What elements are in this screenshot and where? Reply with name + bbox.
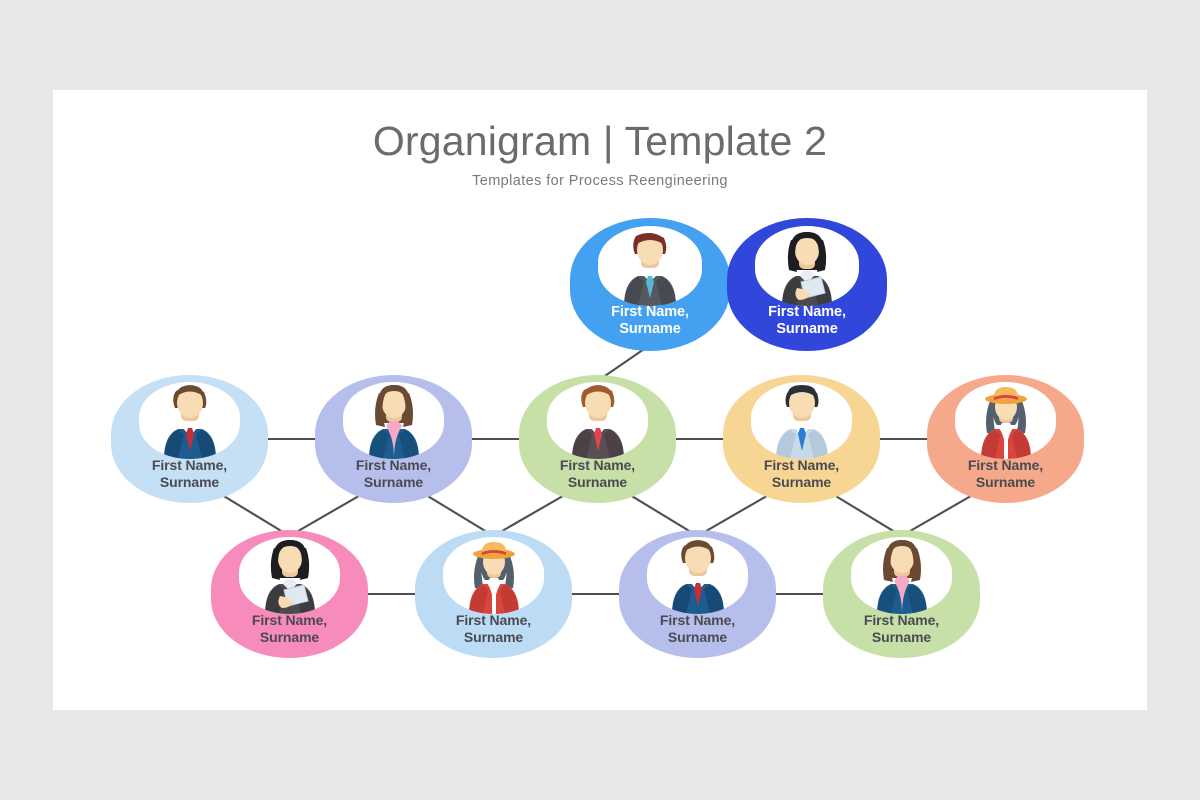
org-node-label: First Name, Surname: [111, 457, 268, 490]
avatar-woman-orange-hat-red-jacket: [443, 537, 544, 614]
avatar-man-blue-suit-red-tie: [647, 537, 748, 614]
org-node-mid-4[interactable]: First Name, Surname: [723, 375, 880, 503]
org-node-label: First Name, Surname: [927, 457, 1084, 490]
page-title: Organigram | Template 2: [53, 118, 1147, 165]
slide-card: Organigram | Template 2 Templates for Pr…: [53, 90, 1147, 710]
org-node-label: First Name, Surname: [315, 457, 472, 490]
org-node-label: First Name, Surname: [570, 304, 730, 338]
org-node-label: First Name, Surname: [619, 612, 776, 645]
page-subtitle: Templates for Process Reengineering: [53, 173, 1147, 189]
avatar-man-blue-suit-red-tie: [139, 382, 240, 459]
avatar-man-light-shirt-blue-tie: [751, 382, 852, 459]
conn-mid2-bot2: [420, 491, 494, 536]
avatar-woman-black-hair-documents: [239, 537, 340, 614]
conn-mid3-bot3: [624, 491, 698, 536]
org-node-mid-1[interactable]: First Name, Surname: [111, 375, 268, 503]
org-node-bot-2[interactable]: First Name, Surname: [415, 530, 572, 658]
org-node-bot-1[interactable]: First Name, Surname: [211, 530, 368, 658]
avatar-woman-black-hair-documents: [755, 226, 859, 306]
org-node-mid-2[interactable]: First Name, Surname: [315, 375, 472, 503]
org-node-top-2[interactable]: First Name, Surname: [727, 218, 887, 351]
conn-mid1-bot1: [216, 491, 290, 536]
conn-mid3-bot2: [494, 491, 572, 536]
org-node-mid-5[interactable]: First Name, Surname: [927, 375, 1084, 503]
org-node-bot-4[interactable]: First Name, Surname: [823, 530, 980, 658]
conn-mid2-bot1: [290, 491, 368, 536]
avatar-man-charcoal-suit-red-tie: [547, 382, 648, 459]
conn-mid4-bot4: [828, 491, 902, 536]
avatar-man-gray-suit-teal-tie: [598, 226, 702, 306]
org-node-top-1[interactable]: First Name, Surname: [570, 218, 730, 351]
org-node-label: First Name, Surname: [823, 612, 980, 645]
org-node-label: First Name, Surname: [723, 457, 880, 490]
conn-mid5-bot4: [902, 491, 980, 536]
org-node-label: First Name, Surname: [727, 304, 887, 338]
org-node-label: First Name, Surname: [211, 612, 368, 645]
org-node-label: First Name, Surname: [415, 612, 572, 645]
org-node-label: First Name, Surname: [519, 457, 676, 490]
org-node-mid-3[interactable]: First Name, Surname: [519, 375, 676, 503]
avatar-woman-blue-blazer-pink-top: [343, 382, 444, 459]
conn-mid4-bot3: [698, 491, 776, 536]
avatar-woman-blue-blazer-pink-top: [851, 537, 952, 614]
org-node-bot-3[interactable]: First Name, Surname: [619, 530, 776, 658]
avatar-woman-orange-hat-red-jacket: [955, 382, 1056, 459]
